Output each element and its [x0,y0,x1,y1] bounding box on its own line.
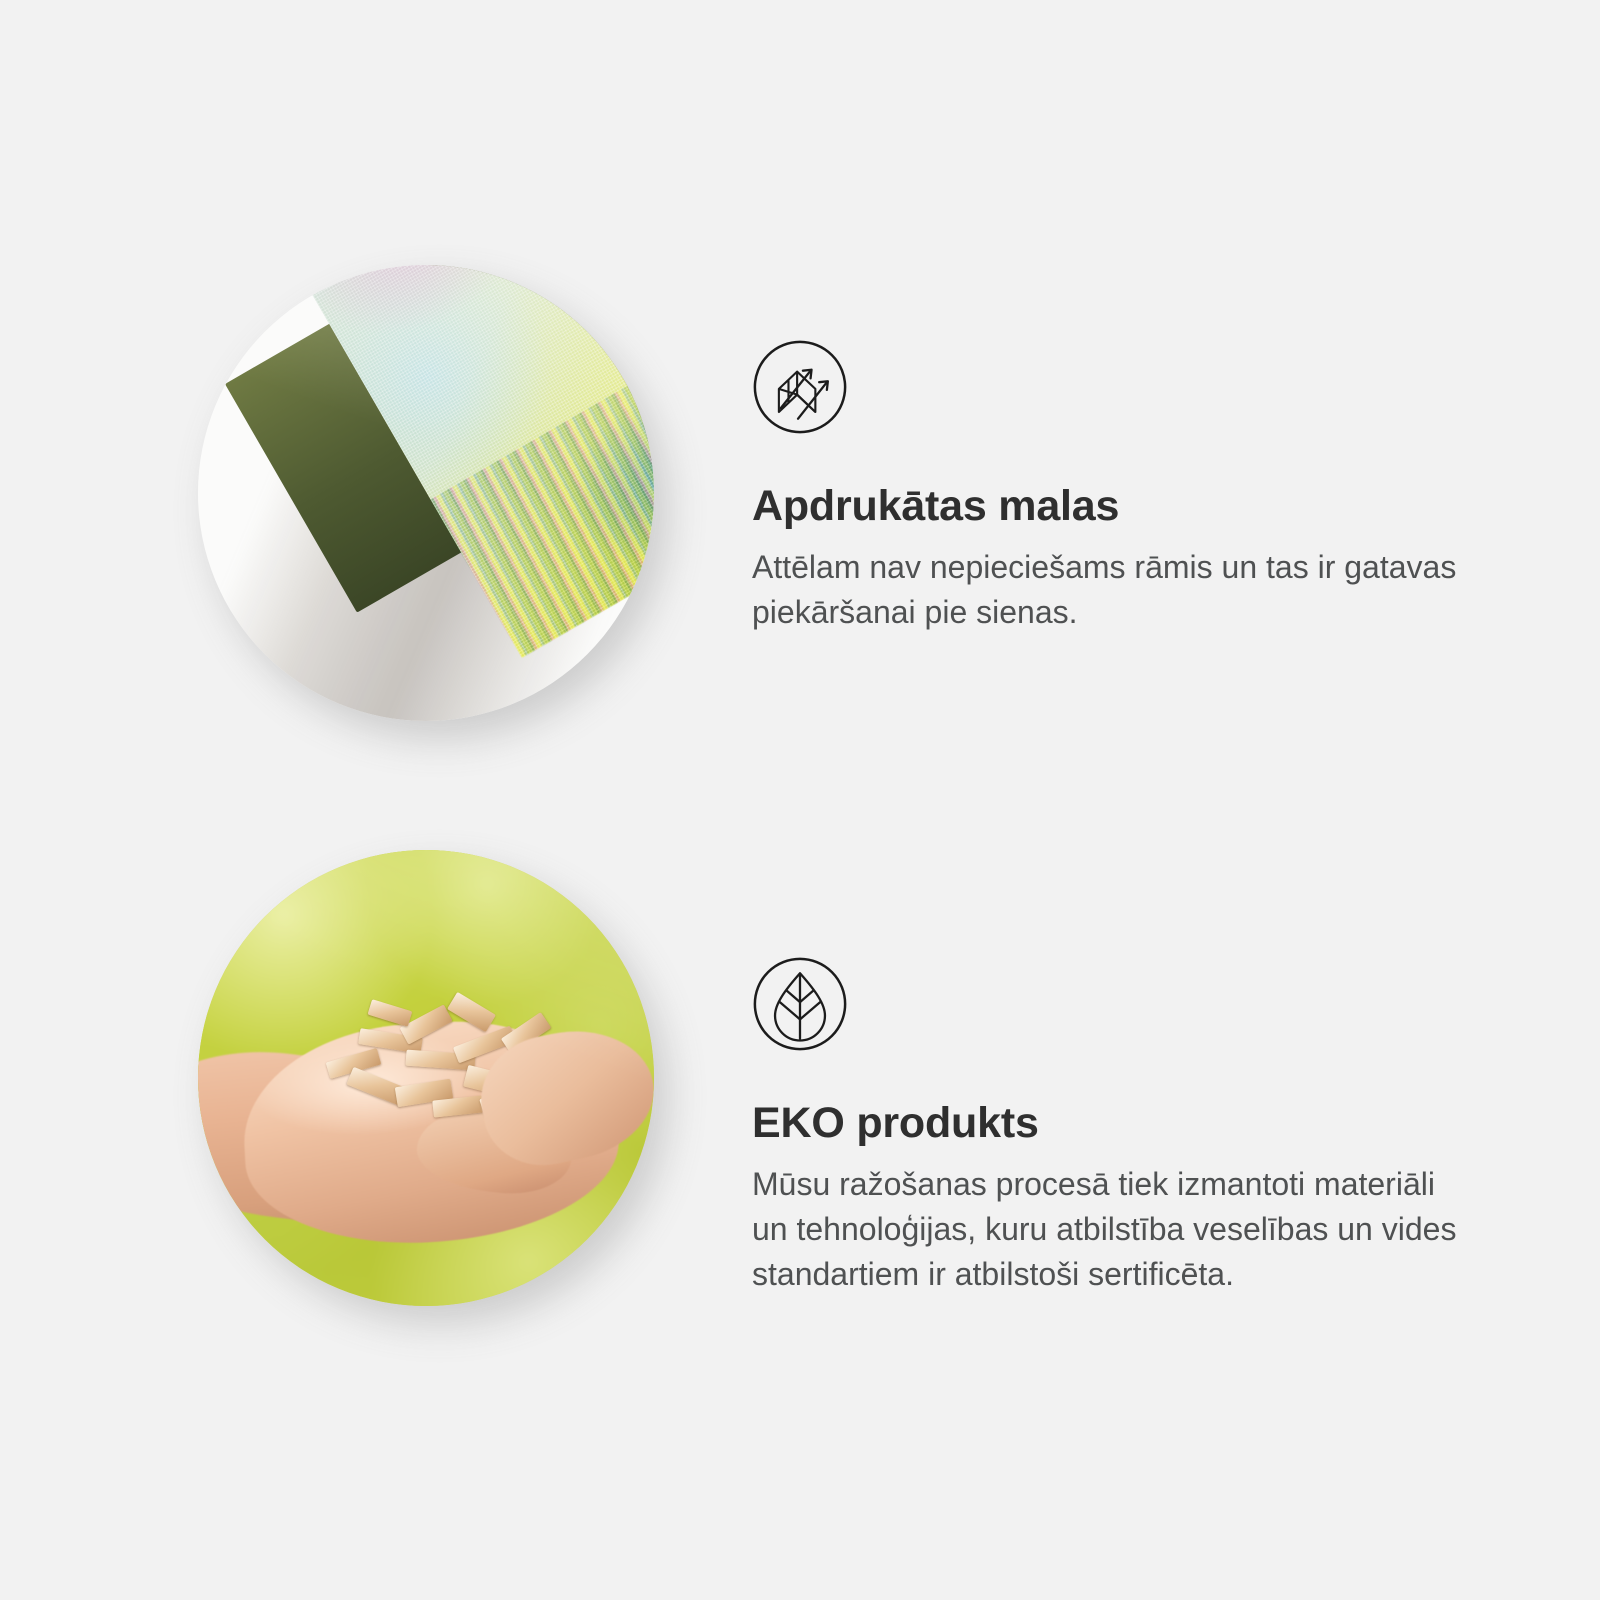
printed-edges-text-column: Apdrukātas malas Attēlam nav nepieciešam… [752,339,1492,635]
leaf-icon [752,956,848,1052]
hands-holding-wood-chips-photo [198,850,654,1306]
feature-description: Attēlam nav nepieciešams rāmis un tas ir… [752,545,1462,635]
canvas-wrapped-edges-icon [752,339,848,435]
features-page: Apdrukātas malas Attēlam nav nepieciešam… [0,0,1600,1600]
eco-text-column: EKO produkts Mūsu ražošanas procesā tiek… [752,956,1492,1297]
feature-description: Mūsu ražošanas procesā tiek izmantoti ma… [752,1162,1462,1296]
feature-eco: EKO produkts Mūsu ražošanas procesā tiek… [0,840,1600,1330]
canvas-print-corner-photo [198,265,654,721]
feature-title: EKO produkts [752,1100,1492,1146]
canvas-scene [198,265,654,721]
feature-printed-edges: Apdrukātas malas Attēlam nav nepieciešam… [0,255,1600,745]
feature-title: Apdrukātas malas [752,483,1492,529]
eco-scene [198,850,654,1306]
